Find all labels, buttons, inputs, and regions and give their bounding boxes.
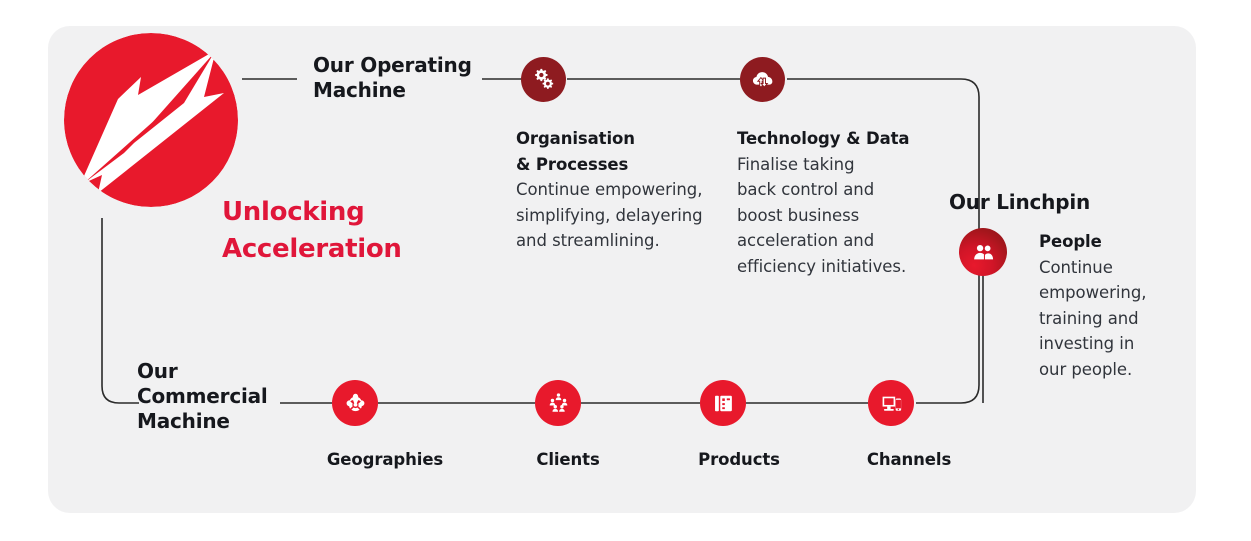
item-title-line-1: Technology & Data <box>737 126 937 152</box>
people-group-icon[interactable] <box>535 380 581 426</box>
item-body-line-2: simplifying, delayering <box>516 203 721 229</box>
item-body-line-5: our people. <box>1039 357 1189 383</box>
caption-channels: Channels <box>829 449 989 470</box>
item-body-line-4: investing in <box>1039 331 1189 357</box>
devices-icon[interactable] <box>868 380 914 426</box>
tagline: Unlocking Acceleration <box>222 194 482 268</box>
item-body-line-1: Continue <box>1039 255 1189 281</box>
branch-label-operating-line-2: Machine <box>313 78 488 103</box>
item-body-line-1: Continue empowering, <box>516 177 721 203</box>
gears-icon[interactable] <box>521 57 566 102</box>
diagram-canvas: Unlocking Acceleration Our Operating Mac… <box>0 0 1251 541</box>
item-body-line-1: Finalise taking <box>737 152 937 178</box>
people-icon[interactable] <box>959 228 1007 276</box>
branch-label-commercial-line-3: Machine <box>137 409 297 434</box>
item-title: People <box>1039 229 1189 255</box>
item-people: People Continue empowering, training and… <box>1039 229 1189 382</box>
item-body-line-2: empowering, <box>1039 280 1189 306</box>
branch-label-commercial-line-2: Commercial <box>137 384 297 409</box>
caption-clients: Clients <box>488 449 648 470</box>
branch-label-operating-line-1: Our Operating <box>313 53 488 78</box>
cloud-data-transfer-icon[interactable] <box>740 57 785 102</box>
product-card-icon[interactable] <box>700 380 746 426</box>
unicredit-logo <box>64 33 238 207</box>
tagline-line-2: Acceleration <box>222 231 482 268</box>
item-title-line-2: & Processes <box>516 152 721 178</box>
branch-label-linchpin: Our Linchpin <box>949 190 1149 215</box>
network-globe-icon[interactable] <box>332 380 378 426</box>
branch-label-commercial-machine: Our Commercial Machine <box>137 359 297 434</box>
item-body-line-4: acceleration and <box>737 228 937 254</box>
branch-label-operating-machine: Our Operating Machine <box>313 53 488 103</box>
caption-geographies: Geographies <box>305 449 465 470</box>
item-body-line-2: back control and <box>737 177 937 203</box>
caption-products: Products <box>659 449 819 470</box>
item-technology-and-data: Technology & Data Finalise taking back c… <box>737 126 937 279</box>
item-title-line-1: Organisation <box>516 126 721 152</box>
branch-label-linchpin-text: Our Linchpin <box>949 190 1149 215</box>
item-organisation-and-processes: Organisation & Processes Continue empowe… <box>516 126 721 254</box>
item-body-line-5: efficiency initiatives. <box>737 254 937 280</box>
item-body-line-3: boost business <box>737 203 937 229</box>
item-body-line-3: training and <box>1039 306 1189 332</box>
tagline-line-1: Unlocking <box>222 194 482 231</box>
branch-label-commercial-line-1: Our <box>137 359 297 384</box>
item-body-line-3: and streamlining. <box>516 228 721 254</box>
